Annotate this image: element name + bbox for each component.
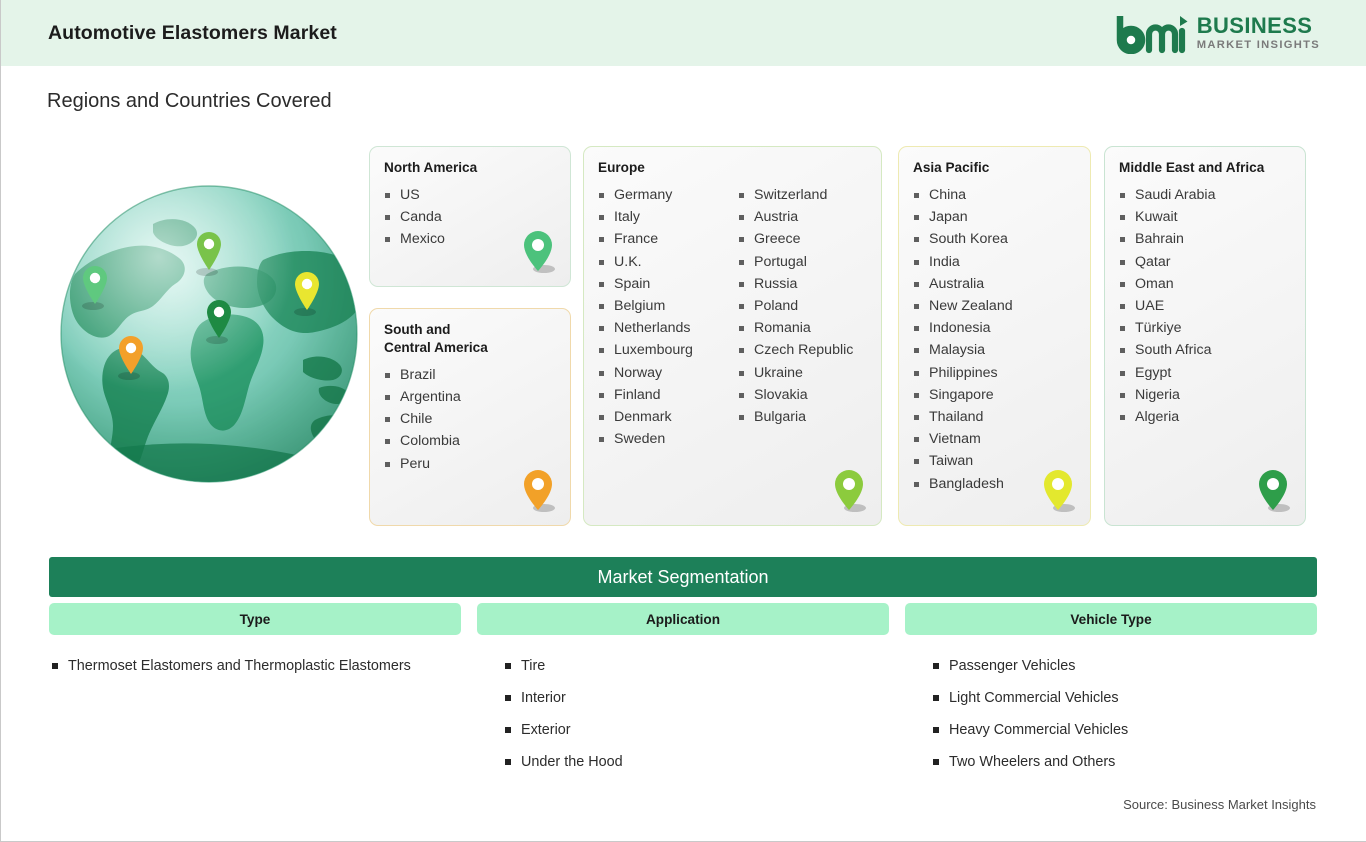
list-item: Indonesia — [913, 317, 1013, 339]
list-item: Oman — [1119, 273, 1215, 295]
list-item: Ukraine — [738, 362, 853, 384]
region-title-middle-east-africa: Middle East and Africa — [1119, 159, 1291, 177]
list-item: UAE — [1119, 295, 1215, 317]
brand-name-primary: BUSINESS — [1197, 15, 1320, 37]
list-item: Exterior — [503, 714, 889, 746]
list-item: Slovakia — [738, 384, 853, 406]
section-heading: Regions and Countries Covered — [47, 90, 332, 113]
list-item: Romania — [738, 317, 853, 339]
list-item: Under the Hood — [503, 746, 889, 778]
brand-logo: BUSINESS MARKET INSIGHTS — [1116, 12, 1320, 54]
region-title-north-america: North America — [384, 159, 556, 177]
list-item: Bahrain — [1119, 228, 1215, 250]
list-item: Two Wheelers and Others — [931, 746, 1317, 778]
list-item: Brazil — [384, 364, 461, 386]
region-country-list-europe-col2: Switzerland Austria Greece Portugal Russ… — [738, 184, 853, 450]
segmentation-column-vehicle-type: Passenger Vehicles Light Commercial Vehi… — [905, 650, 1317, 778]
list-item: Chile — [384, 408, 461, 430]
segmentation-list-type: Thermoset Elastomers and Thermoplastic E… — [50, 650, 461, 682]
list-item: Thailand — [913, 406, 1013, 428]
page-header: Automotive Elastomers Market BUSINESS — [1, 0, 1366, 66]
list-item: Luxembourg — [598, 339, 738, 361]
region-card-europe[interactable]: Europe Germany Italy France U.K. Spain B… — [583, 146, 882, 526]
list-item: France — [598, 228, 738, 250]
region-country-list-north-america: US Canda Mexico — [384, 184, 445, 251]
list-item: Kuwait — [1119, 206, 1215, 228]
list-item: Malaysia — [913, 339, 1013, 361]
segmentation-list-application: Tire Interior Exterior Under the Hood — [503, 650, 889, 778]
list-item: Interior — [503, 682, 889, 714]
list-item: China — [913, 184, 1013, 206]
list-item: India — [913, 251, 1013, 273]
region-card-south-central-america[interactable]: South and Central America Brazil Argenti… — [369, 308, 571, 526]
region-country-list-south-central-america: Brazil Argentina Chile Colombia Peru — [384, 364, 461, 475]
source-note: Source: Business Market Insights — [1123, 797, 1316, 812]
list-item: U.K. — [598, 251, 738, 273]
list-item: Philippines — [913, 362, 1013, 384]
bmi-logo-icon — [1116, 12, 1188, 54]
list-item: Mexico — [384, 228, 445, 250]
brand-name-secondary: MARKET INSIGHTS — [1197, 40, 1320, 51]
list-item: Japan — [913, 206, 1013, 228]
list-item: US — [384, 184, 445, 206]
page-root: Automotive Elastomers Market BUSINESS — [0, 0, 1366, 842]
map-pin-icon-europe — [831, 468, 867, 516]
list-item: Portugal — [738, 251, 853, 273]
region-card-north-america[interactable]: North America US Canda Mexico — [369, 146, 571, 287]
segmentation-column-header-vehicle-type[interactable]: Vehicle Type — [905, 603, 1317, 635]
market-segmentation-header: Market Segmentation — [49, 557, 1317, 597]
list-item: Türkiye — [1119, 317, 1215, 339]
region-title-south-central-america: South and Central America — [384, 321, 556, 357]
list-item: Algeria — [1119, 406, 1215, 428]
list-item: Argentina — [384, 386, 461, 408]
segmentation-column-application: Tire Interior Exterior Under the Hood — [477, 650, 889, 778]
list-item: Poland — [738, 295, 853, 317]
globe-icon — [57, 182, 362, 487]
list-item: Singapore — [913, 384, 1013, 406]
segmentation-column-header-type[interactable]: Type — [49, 603, 461, 635]
list-item: Passenger Vehicles — [931, 650, 1317, 682]
region-title-europe: Europe — [598, 159, 867, 177]
region-title-line2: Central America — [384, 339, 556, 357]
list-item: Spain — [598, 273, 738, 295]
brand-logo-text: BUSINESS MARKET INSIGHTS — [1197, 15, 1320, 51]
region-title-asia-pacific: Asia Pacific — [913, 159, 1076, 177]
list-item: Light Commercial Vehicles — [931, 682, 1317, 714]
region-country-list-europe-col1: Germany Italy France U.K. Spain Belgium … — [598, 184, 738, 450]
region-card-asia-pacific[interactable]: Asia Pacific China Japan South Korea Ind… — [898, 146, 1091, 526]
list-item: Australia — [913, 273, 1013, 295]
map-pin-icon-north-america — [520, 229, 556, 277]
market-segmentation-columns: Thermoset Elastomers and Thermoplastic E… — [49, 650, 1317, 778]
list-item: Italy — [598, 206, 738, 228]
list-item: Colombia — [384, 430, 461, 452]
page-title: Automotive Elastomers Market — [48, 22, 337, 45]
segmentation-column-header-application[interactable]: Application — [477, 603, 889, 635]
list-item: Netherlands — [598, 317, 738, 339]
list-item: South Africa — [1119, 339, 1215, 361]
list-item: Peru — [384, 453, 461, 475]
list-item: Qatar — [1119, 251, 1215, 273]
region-country-list-asia-pacific: China Japan South Korea India Australia … — [913, 184, 1013, 495]
list-item: Denmark — [598, 406, 738, 428]
segmentation-list-vehicle-type: Passenger Vehicles Light Commercial Vehi… — [931, 650, 1317, 778]
list-item: Czech Republic — [738, 339, 853, 361]
segmentation-column-type: Thermoset Elastomers and Thermoplastic E… — [49, 650, 461, 778]
list-item: Belgium — [598, 295, 738, 317]
region-title-line1: South and — [384, 321, 556, 339]
list-item: Bulgaria — [738, 406, 853, 428]
list-item: Canda — [384, 206, 445, 228]
list-item: Norway — [598, 362, 738, 384]
list-item: Heavy Commercial Vehicles — [931, 714, 1317, 746]
list-item: Switzerland — [738, 184, 853, 206]
map-pin-icon-middle-east-africa — [1255, 468, 1291, 516]
list-item: Germany — [598, 184, 738, 206]
map-pin-icon-south-central-america — [520, 468, 556, 516]
page-border-left — [0, 0, 1, 842]
list-item: Austria — [738, 206, 853, 228]
list-item: Vietnam — [913, 428, 1013, 450]
map-pin-icon-asia-pacific — [1040, 468, 1076, 516]
list-item: Thermoset Elastomers and Thermoplastic E… — [50, 650, 461, 682]
list-item: Tire — [503, 650, 889, 682]
market-segmentation-subheaders: Type Application Vehicle Type — [49, 603, 1317, 635]
list-item: Sweden — [598, 428, 738, 450]
list-item: Greece — [738, 228, 853, 250]
list-item: Saudi Arabia — [1119, 184, 1215, 206]
region-country-list-middle-east-africa: Saudi Arabia Kuwait Bahrain Qatar Oman U… — [1119, 184, 1215, 428]
list-item: Finland — [598, 384, 738, 406]
region-card-middle-east-africa[interactable]: Middle East and Africa Saudi Arabia Kuwa… — [1104, 146, 1306, 526]
list-item: Nigeria — [1119, 384, 1215, 406]
list-item: Bangladesh — [913, 473, 1013, 495]
list-item: Taiwan — [913, 450, 1013, 472]
list-item: Egypt — [1119, 362, 1215, 384]
list-item: Russia — [738, 273, 853, 295]
list-item: New Zealand — [913, 295, 1013, 317]
list-item: South Korea — [913, 228, 1013, 250]
